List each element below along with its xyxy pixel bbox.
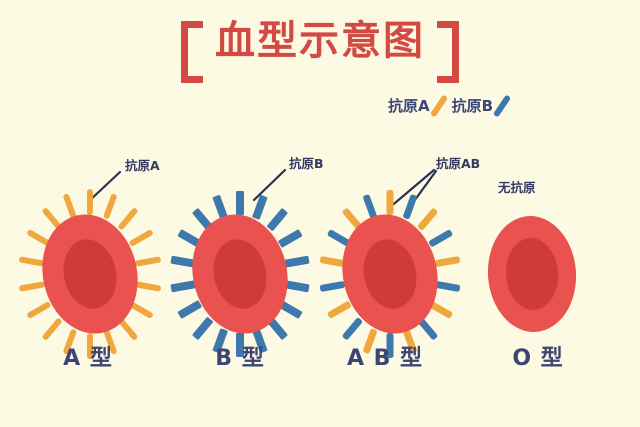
antigen-spike bbox=[192, 317, 214, 341]
antigen-spike bbox=[252, 195, 268, 220]
antigen-spike bbox=[117, 207, 138, 231]
antigen-spike bbox=[135, 256, 162, 266]
antigen-spike bbox=[19, 256, 46, 266]
antigen-spike bbox=[63, 193, 78, 219]
antigen-spike bbox=[417, 207, 438, 231]
antigen-spike bbox=[87, 189, 93, 215]
type-label-b: B 型 bbox=[160, 348, 320, 370]
antigen-spike bbox=[278, 229, 303, 248]
antigen-spike bbox=[26, 301, 52, 319]
antigen-spike bbox=[267, 208, 289, 232]
antigen-spike bbox=[319, 281, 345, 292]
antigen-spike bbox=[327, 300, 352, 319]
antigen-spike bbox=[128, 229, 154, 247]
antigen-spike bbox=[236, 191, 244, 215]
diagram-canvas: 血型示意图 抗原A 抗原B 抗原A 抗原B 抗原AB 无抗原 bbox=[0, 0, 640, 427]
type-label-a: A 型 bbox=[8, 348, 168, 370]
antigen-spike bbox=[402, 194, 417, 220]
antigen-spike bbox=[285, 256, 310, 268]
antigen-spike bbox=[170, 256, 195, 268]
antigen-spike bbox=[342, 317, 363, 341]
antigen-spike bbox=[41, 317, 62, 341]
antigen-spike bbox=[285, 280, 310, 292]
type-label-o: O 型 bbox=[458, 348, 618, 370]
antigen-spike bbox=[435, 281, 461, 292]
antigen-spike bbox=[135, 281, 162, 291]
antigen-spike bbox=[177, 300, 202, 319]
antigen-spike bbox=[319, 256, 345, 267]
antigen-spike bbox=[435, 256, 461, 267]
antigen-spike bbox=[428, 229, 453, 248]
antigen-spike bbox=[170, 280, 195, 292]
type-label-ab: A B 型 bbox=[305, 348, 465, 370]
antigen-spike bbox=[387, 190, 394, 215]
antigen-spike bbox=[103, 193, 118, 219]
antigen-spike bbox=[19, 281, 46, 291]
